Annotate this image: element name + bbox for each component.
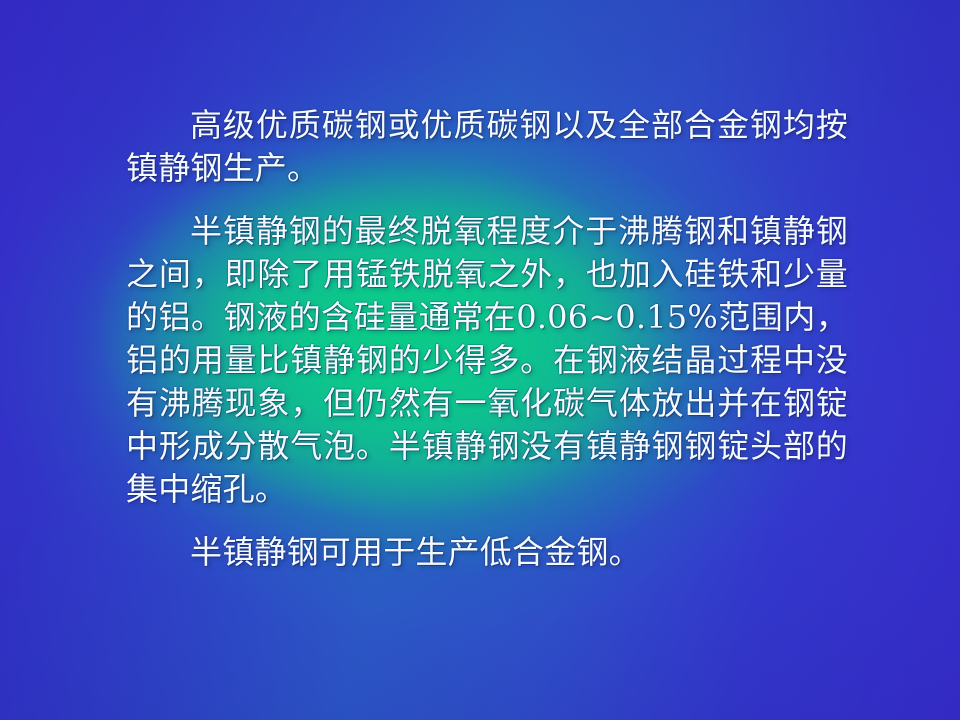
slide-canvas: 高级优质碳钢或优质碳钢以及全部合金钢均按镇静钢生产。 半镇静钢的最终脱氧程度介于… — [0, 0, 960, 720]
paragraph-3: 半镇静钢可用于生产低合金钢。 — [126, 531, 848, 574]
paragraph-1: 高级优质碳钢或优质碳钢以及全部合金钢均按镇静钢生产。 — [126, 104, 848, 190]
paragraph-2: 半镇静钢的最终脱氧程度介于沸腾钢和镇静钢之间，即除了用锰铁脱氧之外，也加入硅铁和… — [126, 210, 848, 511]
slide-text-body: 高级优质碳钢或优质碳钢以及全部合金钢均按镇静钢生产。 半镇静钢的最终脱氧程度介于… — [126, 104, 848, 574]
